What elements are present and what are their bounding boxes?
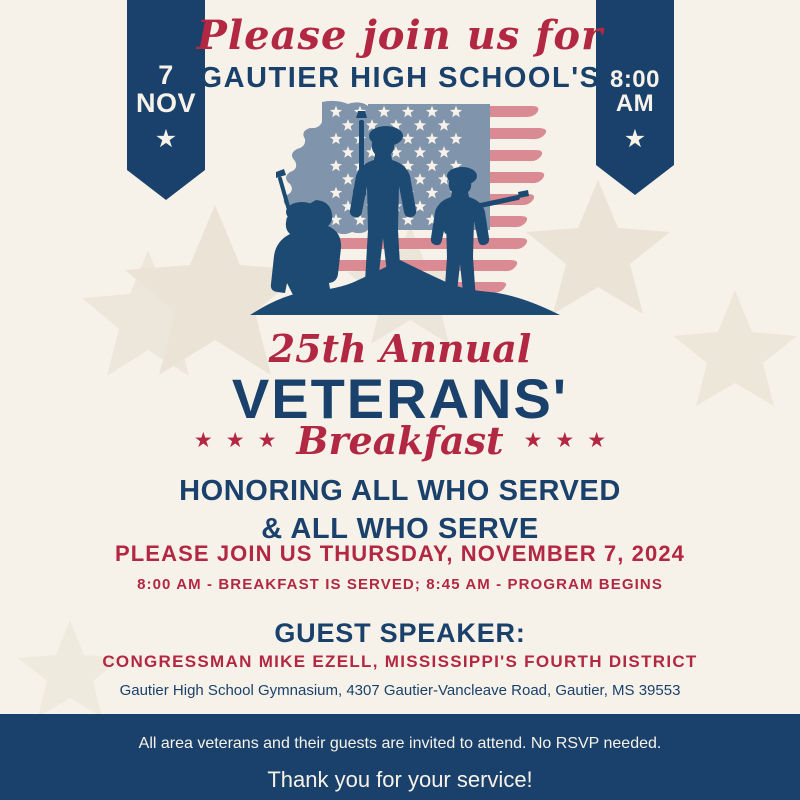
star-icon: ★ — [155, 127, 177, 152]
star-icon: ★ — [587, 430, 606, 451]
star-icon: ★ — [524, 430, 543, 451]
star-icon: ★ — [555, 430, 574, 451]
ribbon-tail — [596, 165, 674, 195]
venue-address: Gautier High School Gymnasium, 4307 Gaut… — [0, 682, 800, 699]
star-group-left: ★ ★ ★ — [194, 430, 276, 451]
honoring-line-1: HONORING ALL WHO SERVED — [0, 472, 800, 510]
star-icon: ★ — [226, 430, 245, 451]
ribbon-tail — [127, 170, 205, 200]
school-name: GAUTIER HIGH SCHOOL'S — [0, 62, 800, 95]
breakfast-word: Breakfast — [296, 418, 503, 463]
guest-speaker-label: GUEST SPEAKER: — [0, 618, 800, 649]
annual-edition: 25th Annual — [0, 326, 800, 371]
star-icon: ★ — [624, 127, 646, 152]
honoring-tagline: HONORING ALL WHO SERVED & ALL WHO SERVE — [0, 472, 800, 549]
event-times-line: 8:00 AM - BREAKFAST IS SERVED; 8:45 AM -… — [0, 576, 800, 593]
breakfast-title-row: ★ ★ ★ Breakfast ★ ★ ★ — [0, 418, 800, 463]
star-group-right: ★ ★ ★ — [524, 430, 606, 451]
footer-bar: All area veterans and their guests are i… — [0, 714, 800, 800]
event-date-line: PLEASE JOIN US THURSDAY, NOVEMBER 7, 202… — [0, 541, 800, 567]
ribbon-meridiem: AM — [616, 92, 654, 116]
star-icon: ★ — [258, 430, 277, 451]
star-icon: ★ — [194, 430, 213, 451]
script-invite: Please join us for — [0, 12, 800, 59]
footer-thank-you: Thank you for your service! — [0, 753, 800, 793]
flag-and-soldiers-artwork — [240, 100, 570, 325]
footer-invitation-note: All area veterans and their guests are i… — [0, 714, 800, 753]
guest-speaker-name: CONGRESSMAN MIKE EZELL, MISSISSIPPI'S FO… — [0, 652, 800, 672]
